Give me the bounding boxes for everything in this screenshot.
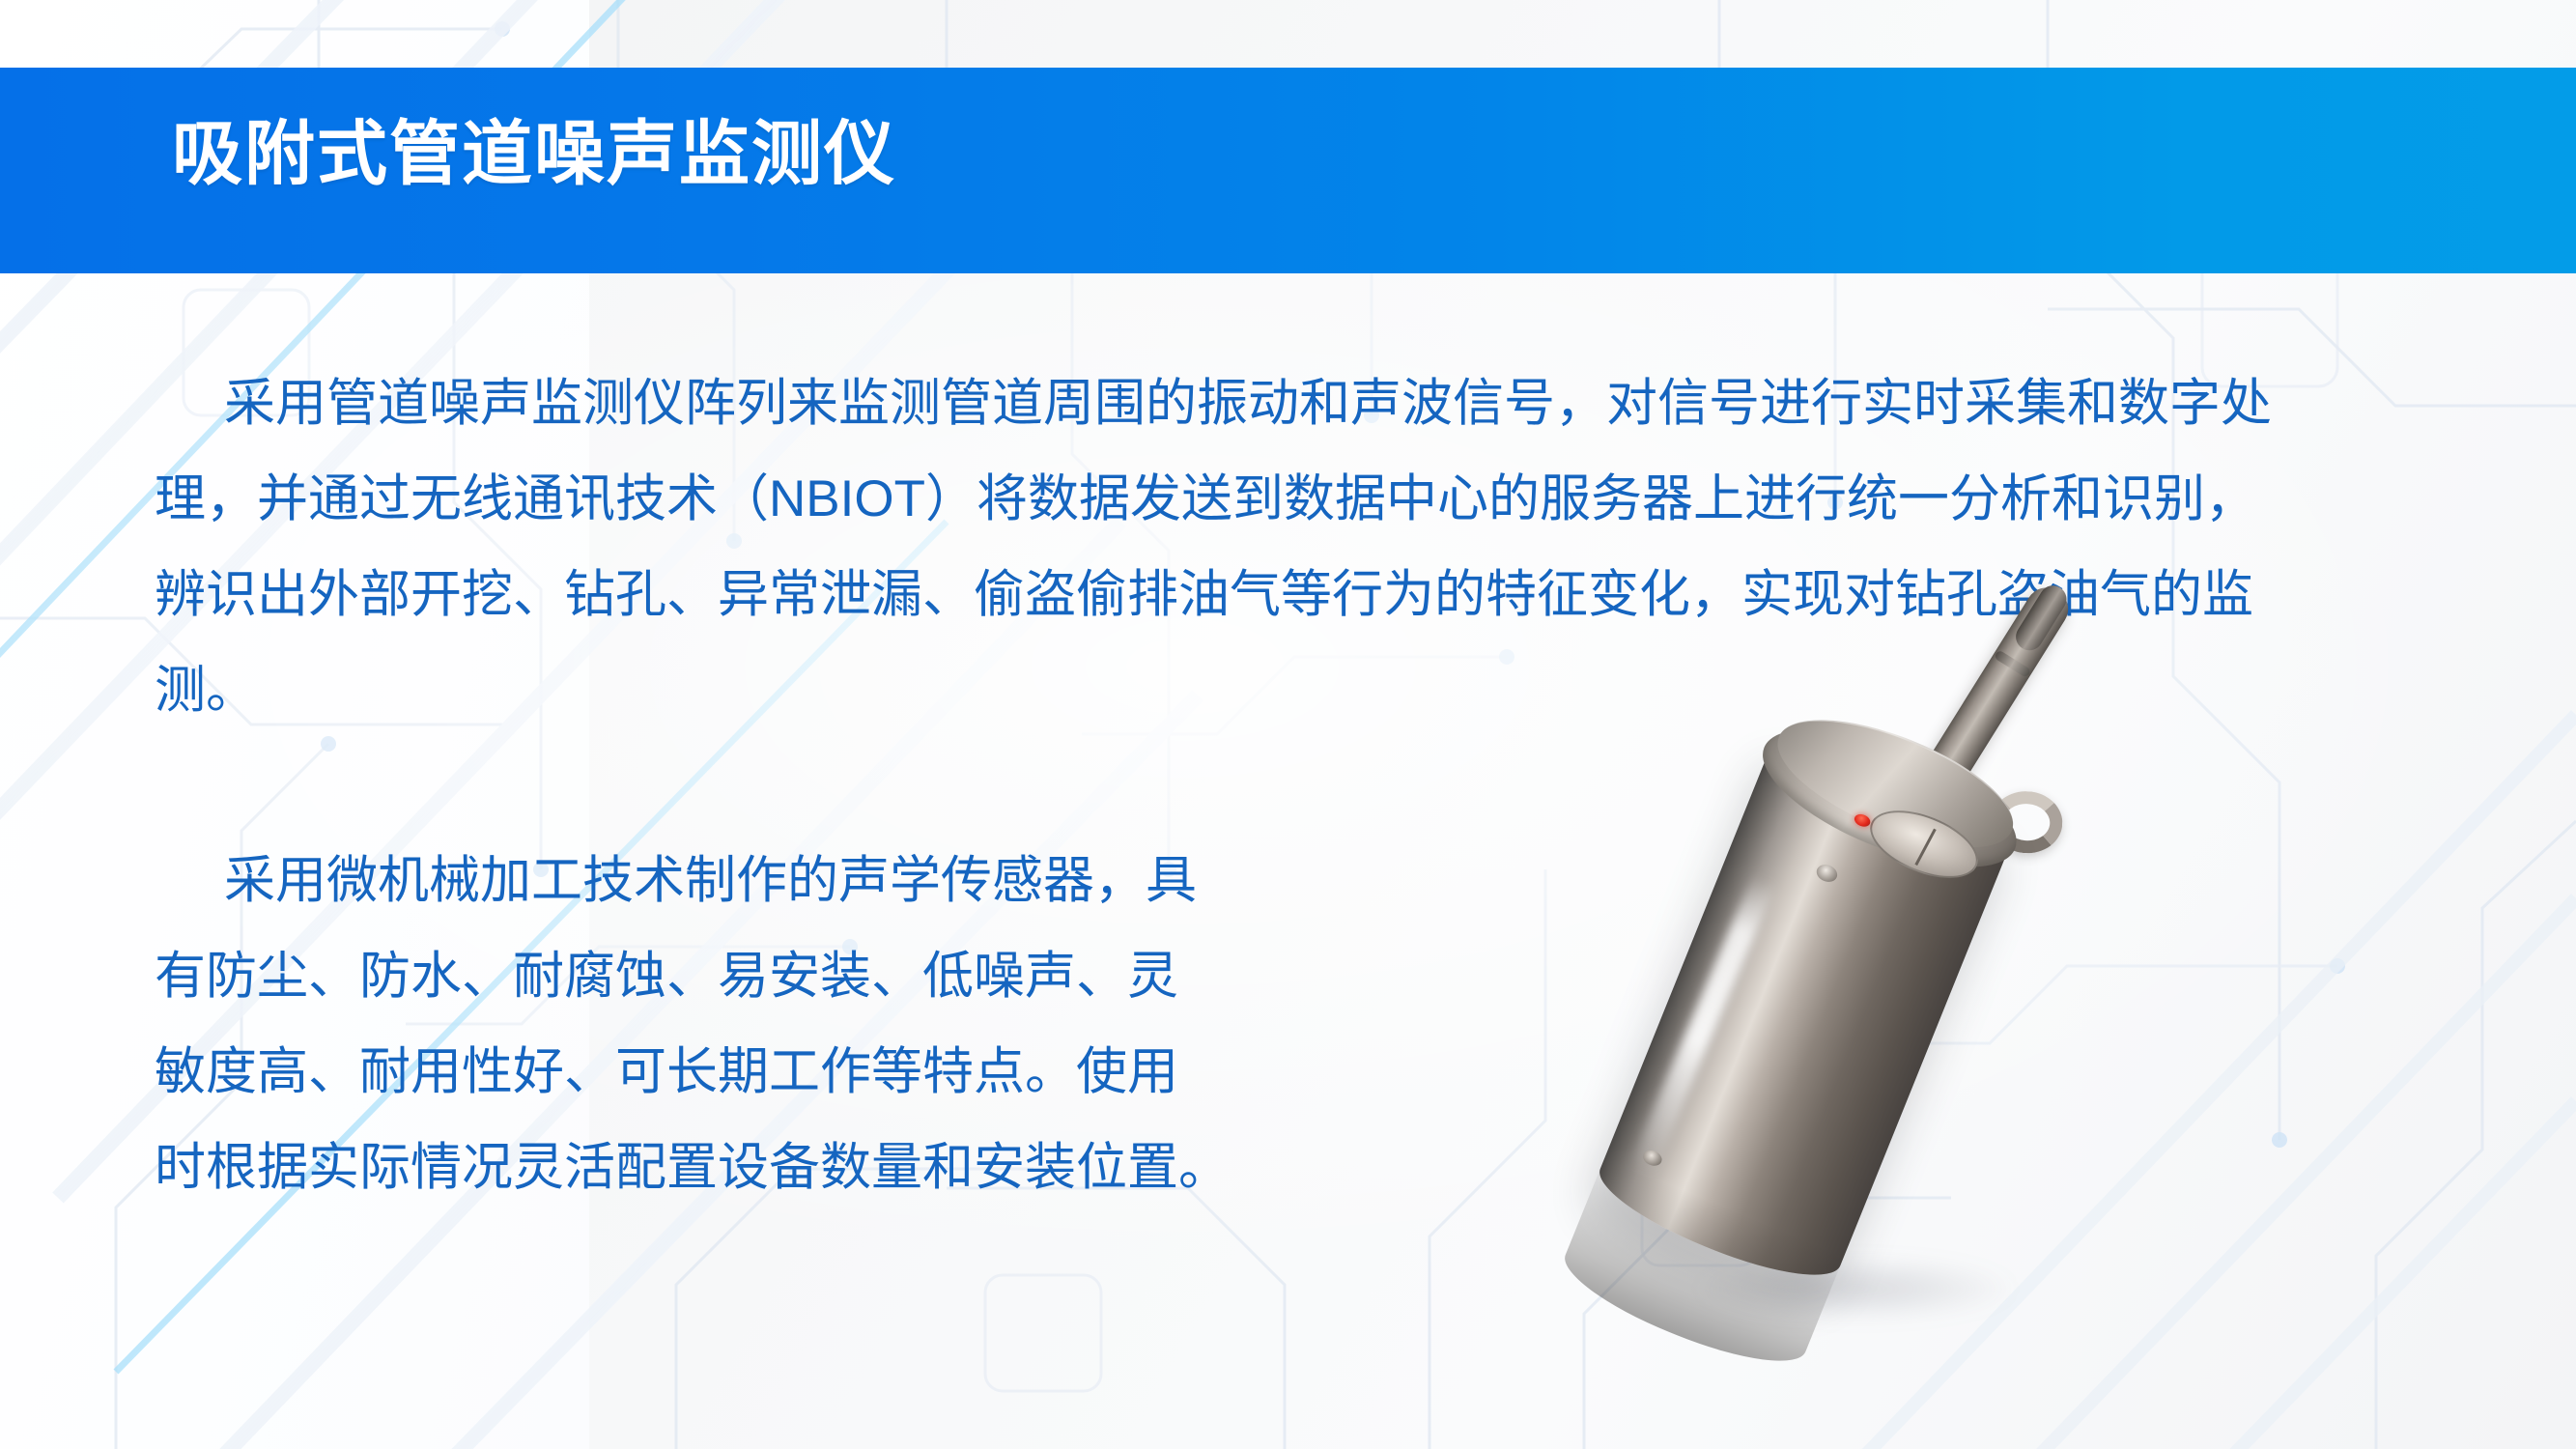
- noise-monitor-device: [1585, 651, 2105, 1325]
- paragraph-one-line-2: 理，并通过无线通讯技术（NBIOT）将数据发送到数据中心的服务器上进行统一分析和…: [155, 451, 2272, 547]
- paragraph-one-line-1: 采用管道噪声监测仪阵列来监测管道周围的振动和声波信号，对信号进行实时采集和数字处: [155, 355, 2272, 451]
- product-photo: [1603, 609, 2222, 1343]
- paragraph-two-line-3: 敏度高、耐用性好、可长期工作等特点。使用: [155, 1024, 1230, 1120]
- description-paragraph-two: 采用微机械加工技术制作的声学传感器，具 有防尘、防水、耐腐蚀、易安装、低噪声、灵…: [155, 833, 1230, 1215]
- antenna-collar: [1994, 649, 2031, 678]
- paragraph-two-line-2: 有防尘、防水、耐腐蚀、易安装、低噪声、灵: [155, 928, 1230, 1024]
- device-body-highlight: [1629, 874, 1777, 1178]
- page-title: 吸附式管道噪声监测仪: [172, 119, 896, 189]
- paragraph-two-line-4: 时根据实际情况灵活配置设备数量和安装位置。: [155, 1120, 1230, 1215]
- sensor-window-needle: [1914, 829, 1936, 866]
- product-photo-stage: [1603, 609, 2222, 1343]
- paragraph-two-line-1: 采用微机械加工技术制作的声学传感器，具: [155, 833, 1230, 928]
